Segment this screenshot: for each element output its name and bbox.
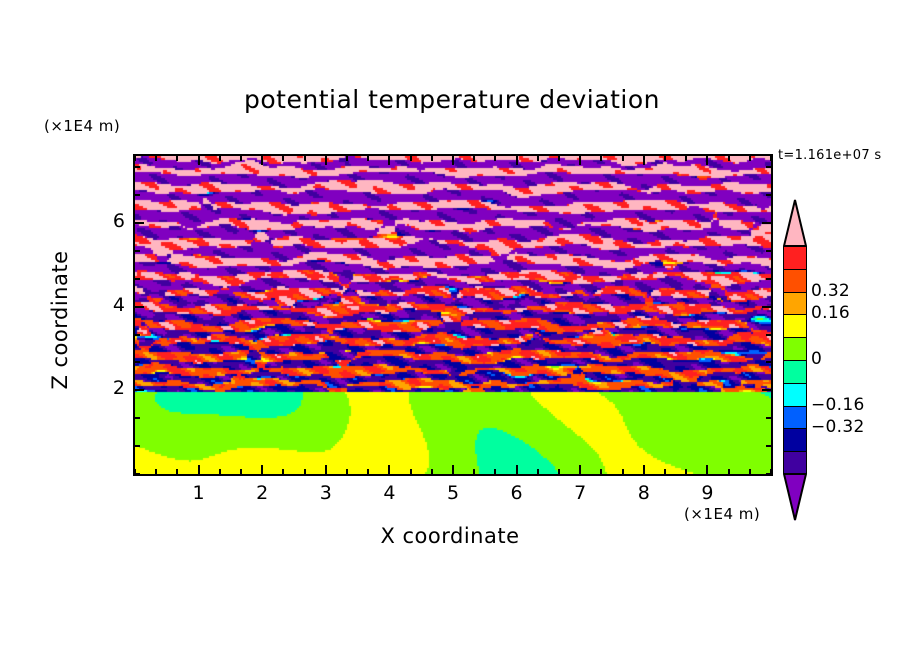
colorbar-top-arrow-outline bbox=[783, 199, 807, 247]
y-minor-tick bbox=[135, 194, 140, 196]
y-major-tick-right bbox=[762, 306, 771, 308]
x-minor-tick-top bbox=[558, 156, 560, 161]
x-major-tick bbox=[706, 465, 708, 474]
x-major-tick bbox=[198, 465, 200, 474]
x-major-tick bbox=[643, 465, 645, 474]
x-tick-label: 4 bbox=[369, 482, 409, 504]
x-major-tick-top bbox=[325, 156, 327, 165]
y-minor-tick-right bbox=[766, 417, 771, 419]
y-major-tick-right bbox=[762, 222, 771, 224]
colorbar-band bbox=[783, 451, 807, 474]
x-minor-tick bbox=[537, 469, 539, 474]
x-minor-tick-top bbox=[240, 156, 242, 161]
page-title: potential temperature deviation bbox=[0, 85, 904, 114]
x-major-tick bbox=[388, 465, 390, 474]
x-major-tick-top bbox=[261, 156, 263, 165]
x-minor-tick-top bbox=[134, 156, 136, 161]
x-minor-tick bbox=[240, 469, 242, 474]
y-minor-tick-right bbox=[766, 445, 771, 447]
x-minor-tick-top bbox=[155, 156, 157, 161]
x-minor-tick-top bbox=[346, 156, 348, 161]
x-minor-tick-top bbox=[431, 156, 433, 161]
colorbar-bands bbox=[783, 246, 807, 474]
x-minor-tick-top bbox=[728, 156, 730, 161]
x-tick-label: 6 bbox=[497, 482, 537, 504]
y-major-tick bbox=[135, 306, 144, 308]
y-axis-units-label: (×1E4 m) bbox=[44, 117, 120, 135]
x-minor-tick bbox=[622, 469, 624, 474]
contour-plot-area[interactable] bbox=[133, 154, 773, 476]
y-minor-tick-right bbox=[766, 250, 771, 252]
x-axis-units-label: (×1E4 m) bbox=[684, 505, 760, 523]
colorbar-band bbox=[783, 269, 807, 292]
x-major-tick bbox=[516, 465, 518, 474]
x-minor-tick-top bbox=[494, 156, 496, 161]
x-major-tick-top bbox=[198, 156, 200, 165]
x-minor-tick bbox=[728, 469, 730, 474]
y-minor-tick bbox=[135, 417, 140, 419]
y-minor-tick-right bbox=[766, 361, 771, 363]
x-minor-tick bbox=[367, 469, 369, 474]
contour-field-canvas bbox=[135, 156, 771, 474]
y-major-tick-right bbox=[762, 389, 771, 391]
x-major-tick-top bbox=[643, 156, 645, 165]
colorbar[interactable] bbox=[783, 199, 807, 521]
x-minor-tick bbox=[155, 469, 157, 474]
x-minor-tick bbox=[346, 469, 348, 474]
y-tick-label: 6 bbox=[99, 210, 125, 232]
x-minor-tick bbox=[749, 469, 751, 474]
x-tick-label: 8 bbox=[624, 482, 664, 504]
y-minor-tick bbox=[135, 250, 140, 252]
x-minor-tick bbox=[176, 469, 178, 474]
x-major-tick bbox=[325, 465, 327, 474]
x-major-tick-top bbox=[452, 156, 454, 165]
colorbar-tick-label: 0 bbox=[811, 349, 822, 369]
y-tick-label: 2 bbox=[99, 377, 125, 399]
x-minor-tick-top bbox=[600, 156, 602, 161]
y-major-tick bbox=[135, 389, 144, 391]
colorbar-band bbox=[783, 428, 807, 451]
x-major-tick-top bbox=[388, 156, 390, 165]
x-minor-tick bbox=[410, 469, 412, 474]
y-minor-tick bbox=[135, 278, 140, 280]
x-minor-tick bbox=[664, 469, 666, 474]
colorbar-tick-label: 0.32 bbox=[811, 281, 850, 301]
x-minor-tick-top bbox=[622, 156, 624, 161]
colorbar-band bbox=[783, 383, 807, 406]
x-major-tick-top bbox=[706, 156, 708, 165]
x-minor-tick bbox=[494, 469, 496, 474]
x-major-tick bbox=[452, 465, 454, 474]
x-tick-label: 2 bbox=[242, 482, 282, 504]
y-minor-tick-right bbox=[766, 278, 771, 280]
figure-root: potential temperature deviation (×1E4 m)… bbox=[0, 0, 904, 654]
x-major-tick bbox=[261, 465, 263, 474]
x-major-tick-top bbox=[516, 156, 518, 165]
colorbar-band bbox=[783, 314, 807, 337]
x-minor-tick bbox=[685, 469, 687, 474]
x-minor-tick bbox=[600, 469, 602, 474]
y-minor-tick-right bbox=[766, 334, 771, 336]
x-minor-tick-top bbox=[282, 156, 284, 161]
y-major-tick bbox=[135, 222, 144, 224]
x-tick-label: 9 bbox=[687, 482, 727, 504]
x-minor-tick bbox=[558, 469, 560, 474]
x-major-tick-top bbox=[579, 156, 581, 165]
x-tick-label: 7 bbox=[560, 482, 600, 504]
x-axis-title: X coordinate bbox=[330, 524, 570, 548]
colorbar-band bbox=[783, 406, 807, 429]
colorbar-band bbox=[783, 337, 807, 360]
colorbar-band bbox=[783, 360, 807, 383]
x-minor-tick bbox=[304, 469, 306, 474]
x-minor-tick-top bbox=[176, 156, 178, 161]
x-minor-tick-top bbox=[770, 156, 772, 161]
y-axis-title: Z coordinate bbox=[48, 220, 72, 420]
y-minor-tick bbox=[135, 361, 140, 363]
y-minor-tick bbox=[135, 334, 140, 336]
y-minor-tick bbox=[135, 445, 140, 447]
colorbar-tick-label: 0.16 bbox=[811, 303, 850, 323]
timestamp-label: t=1.161e+07 s bbox=[778, 148, 881, 163]
colorbar-band bbox=[783, 246, 807, 269]
y-minor-tick-right bbox=[766, 194, 771, 196]
x-minor-tick bbox=[219, 469, 221, 474]
y-minor-tick-right bbox=[766, 166, 771, 168]
x-minor-tick-top bbox=[304, 156, 306, 161]
colorbar-tick-label: −0.32 bbox=[811, 417, 865, 437]
x-major-tick bbox=[579, 465, 581, 474]
x-minor-tick bbox=[431, 469, 433, 474]
x-minor-tick bbox=[473, 469, 475, 474]
colorbar-band bbox=[783, 292, 807, 315]
x-minor-tick-top bbox=[749, 156, 751, 161]
x-minor-tick-top bbox=[367, 156, 369, 161]
colorbar-bottom-arrow-outline bbox=[783, 473, 807, 521]
y-minor-tick-right bbox=[766, 473, 771, 475]
x-minor-tick bbox=[282, 469, 284, 474]
x-minor-tick-top bbox=[473, 156, 475, 161]
y-tick-label: 4 bbox=[99, 294, 125, 316]
x-minor-tick-top bbox=[410, 156, 412, 161]
x-tick-label: 3 bbox=[306, 482, 346, 504]
x-minor-tick-top bbox=[537, 156, 539, 161]
colorbar-tick-label: −0.16 bbox=[811, 395, 865, 415]
x-minor-tick-top bbox=[219, 156, 221, 161]
x-tick-label: 1 bbox=[179, 482, 219, 504]
x-minor-tick-top bbox=[685, 156, 687, 161]
y-minor-tick bbox=[135, 166, 140, 168]
x-minor-tick-top bbox=[664, 156, 666, 161]
y-minor-tick bbox=[135, 473, 140, 475]
x-tick-label: 5 bbox=[433, 482, 473, 504]
